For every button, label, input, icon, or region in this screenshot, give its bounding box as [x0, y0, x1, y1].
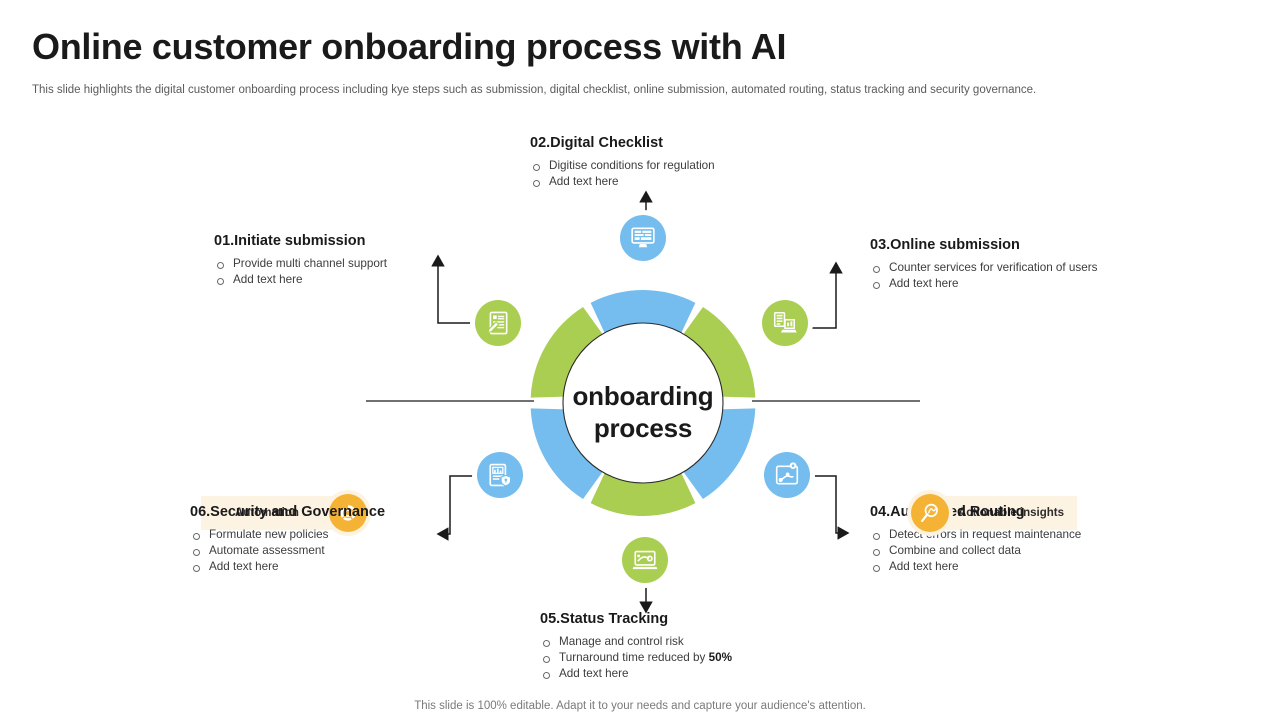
- step-block-01: 01.Initiate submission Provide multi cha…: [214, 233, 387, 288]
- step-icon-05-laptop-progress[interactable]: [622, 537, 668, 583]
- desktop-checklist-icon: [630, 225, 656, 251]
- step-block-04: 04.Automated Routing Detect errors in re…: [870, 504, 1081, 576]
- list-item: Provide multi channel support: [214, 256, 387, 272]
- step-bullets-04: Detect errors in request maintenance Com…: [870, 527, 1081, 576]
- list-item: Add text here: [214, 272, 387, 288]
- onboarding-process-diagram: onboarding process: [0, 110, 1280, 690]
- server-laptop-icon: [772, 310, 798, 336]
- list-item: Manage and control risk: [540, 634, 732, 650]
- list-item: Add text here: [190, 559, 385, 575]
- center-label-line1: onboarding: [573, 381, 714, 413]
- list-item-highlight: 50%: [709, 651, 732, 664]
- step-icon-03-server-laptop[interactable]: [762, 300, 808, 346]
- report-shield-icon: [487, 462, 513, 488]
- list-item-text: Turnaround time reduced by: [559, 651, 709, 664]
- step-title-06: 06.Security and Governance: [190, 504, 385, 520]
- step-block-02: 02.Digital Checklist Digitise conditions…: [530, 135, 715, 190]
- step-block-03: 03.Online submission Counter services fo…: [870, 237, 1098, 292]
- routing-map-icon: [774, 462, 800, 488]
- list-item: Digitise conditions for regulation: [530, 158, 715, 174]
- center-label-line2: process: [594, 413, 692, 445]
- list-item: Add text here: [870, 559, 1081, 575]
- step-title-02: 02.Digital Checklist: [530, 135, 715, 151]
- step-bullets-02: Digitise conditions for regulation Add t…: [530, 158, 715, 190]
- footer-note: This slide is 100% editable. Adapt it to…: [0, 700, 1280, 712]
- magnifier-insight-icon-badge[interactable]: [911, 494, 949, 532]
- page-title: Online customer onboarding process with …: [32, 26, 786, 68]
- step-block-06: 06.Security and Governance Formulate new…: [190, 504, 385, 576]
- laptop-progress-icon: [632, 547, 658, 573]
- list-item: Add text here: [870, 276, 1098, 292]
- step-title-05: 05.Status Tracking: [540, 611, 732, 627]
- slide-root: Online customer onboarding process with …: [0, 0, 1280, 720]
- step-title-03: 03.Online submission: [870, 237, 1098, 253]
- list-item: Turnaround time reduced by 50%: [540, 650, 732, 666]
- list-item: Formulate new policies: [190, 527, 385, 543]
- step-icon-06-report-shield[interactable]: [477, 452, 523, 498]
- step-icon-02-desktop-checklist[interactable]: [620, 215, 666, 261]
- magnifier-insight-icon: [919, 502, 941, 524]
- list-item: Add text here: [530, 174, 715, 190]
- list-item: Combine and collect data: [870, 543, 1081, 559]
- page-subtitle: This slide highlights the digital custom…: [32, 84, 1248, 96]
- list-item: Add text here: [540, 666, 732, 682]
- step-bullets-01: Provide multi channel support Add text h…: [214, 256, 387, 288]
- list-item: Counter services for verification of use…: [870, 260, 1098, 276]
- step-icon-04-routing-map[interactable]: [764, 452, 810, 498]
- list-item: Detect errors in request maintenance: [870, 527, 1081, 543]
- step-bullets-03: Counter services for verification of use…: [870, 260, 1098, 292]
- step-icon-01-document-pen[interactable]: [475, 300, 521, 346]
- step-title-01: 01.Initiate submission: [214, 233, 387, 249]
- list-item: Automate assessment: [190, 543, 385, 559]
- step-block-05: 05.Status Tracking Manage and control ri…: [540, 611, 732, 683]
- step-title-04: 04.Automated Routing: [870, 504, 1081, 520]
- center-label: onboarding process: [543, 368, 743, 458]
- step-bullets-06: Formulate new policies Automate assessme…: [190, 527, 385, 576]
- document-pen-icon: [485, 310, 511, 336]
- step-bullets-05: Manage and control risk Turnaround time …: [540, 634, 732, 683]
